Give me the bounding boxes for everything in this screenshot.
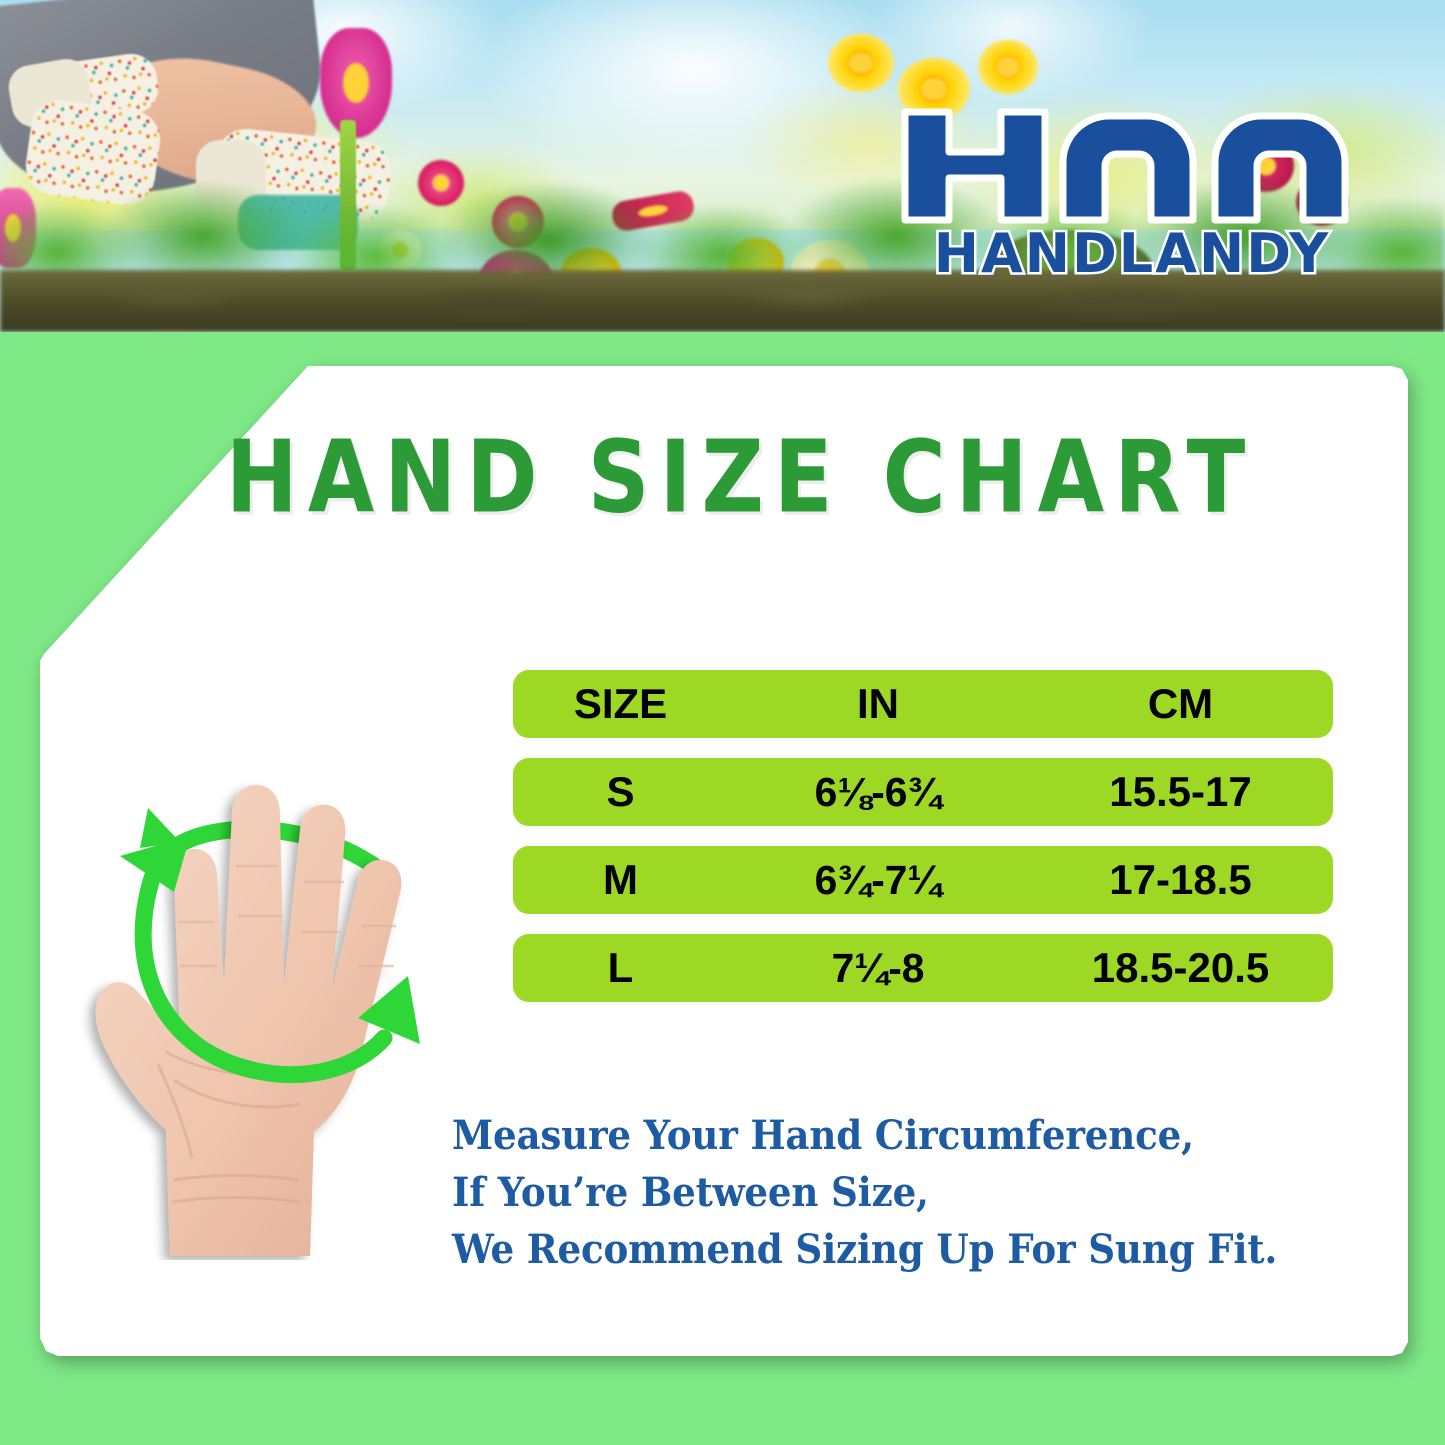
sizing-note-line-3: We Recommend Sizing Up For Sung Fit. bbox=[452, 1222, 1277, 1279]
sizing-note-line-1: Measure Your Hand Circumference, bbox=[452, 1108, 1277, 1165]
column-header-in: IN bbox=[728, 680, 1028, 728]
cell-in: 6⅛-6¾ bbox=[728, 769, 1028, 816]
cell-cm: 17-18.5 bbox=[1028, 856, 1333, 904]
hand-measure-illustration bbox=[62, 660, 462, 1260]
cell-size: M bbox=[513, 856, 728, 904]
table-row: L 7¼-8 18.5-20.5 bbox=[513, 934, 1333, 1002]
cell-size: L bbox=[513, 944, 728, 992]
flower-pink-hyacinth bbox=[320, 28, 392, 138]
table-header-row: SIZE IN CM bbox=[513, 670, 1333, 738]
flower-daffodil-1 bbox=[828, 34, 894, 92]
flower-daffodil-3 bbox=[978, 40, 1038, 94]
size-chart-page: HANDLANDY HAND SIZE CHART bbox=[0, 0, 1445, 1445]
logo-wordmark: HANDLANDY bbox=[934, 222, 1330, 280]
cell-cm: 15.5-17 bbox=[1028, 768, 1333, 816]
handlandy-logo: HANDLANDY bbox=[897, 92, 1367, 280]
cell-in: 6¾-7¼ bbox=[728, 857, 1028, 904]
page-title: HAND SIZE CHART bbox=[0, 428, 1445, 528]
cell-cm: 18.5-20.5 bbox=[1028, 944, 1333, 992]
hd-monogram-icon bbox=[905, 112, 1345, 220]
sizing-note-line-2: If You’re Between Size, bbox=[452, 1165, 1277, 1222]
column-header-cm: CM bbox=[1028, 680, 1333, 728]
sizing-note: Measure Your Hand Circumference, If You’… bbox=[452, 1108, 1277, 1278]
size-table: SIZE IN CM S 6⅛-6¾ 15.5-17 M 6¾-7¼ 17-18… bbox=[513, 670, 1333, 1022]
cell-in: 7¼-8 bbox=[728, 945, 1028, 992]
column-header-size: SIZE bbox=[513, 680, 728, 728]
table-row: M 6¾-7¼ 17-18.5 bbox=[513, 846, 1333, 914]
table-row: S 6⅛-6¾ 15.5-17 bbox=[513, 758, 1333, 826]
cell-size: S bbox=[513, 768, 728, 816]
